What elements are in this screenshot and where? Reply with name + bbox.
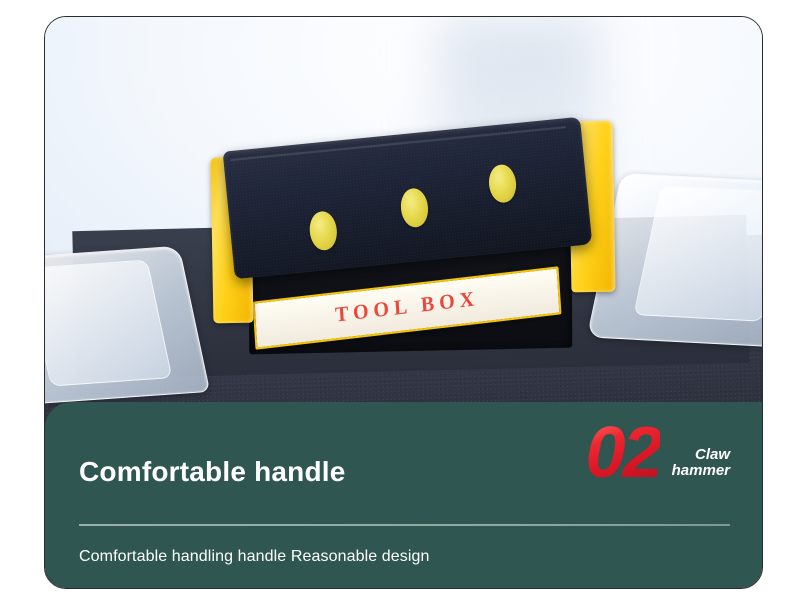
caption-divider (79, 524, 730, 526)
feature-subject-label: Claw hammer (672, 447, 730, 487)
feature-badge: 02 Claw hammer (586, 420, 730, 486)
grip-dot-1 (308, 211, 339, 252)
caption-panel: Comfortable handle 02 Claw hammer Comfor… (45, 402, 763, 589)
grip-dot-2 (399, 187, 430, 228)
caption-subcopy: Comfortable handling handle Reasonable d… (79, 548, 730, 566)
grip-dot-3 (487, 163, 518, 204)
caption-panel-top-row: Comfortable handle 02 Claw hammer (79, 444, 730, 522)
feature-number: 02 (586, 420, 660, 486)
tool-box-label-text: TOOL BOX (334, 288, 479, 329)
page-title: Comfortable handle (79, 456, 346, 488)
product-feature-card: TOOL BOX Comfortable handle 02 Claw hamm… (44, 16, 763, 589)
